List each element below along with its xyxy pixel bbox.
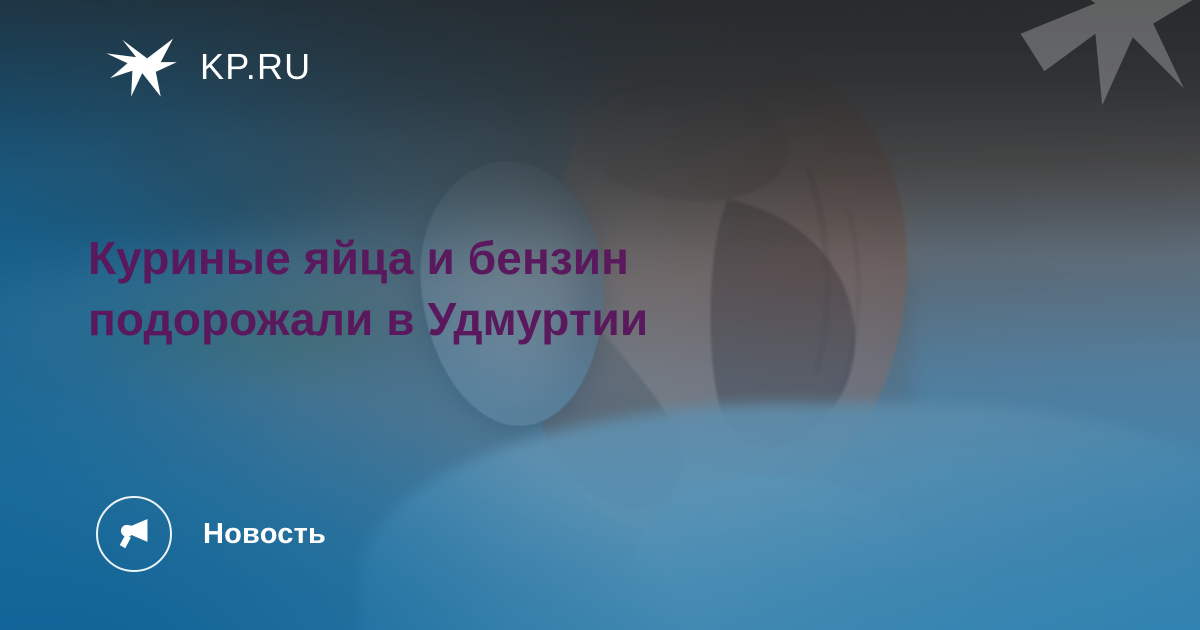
share-card: KP.RU Куриные яйца и бензин подорожали в…: [0, 0, 1200, 630]
status-badge-label: Новость: [203, 520, 326, 549]
status-badge[interactable]: Новость: [96, 496, 326, 572]
megaphone-icon: [96, 496, 172, 572]
brand-lockup[interactable]: KP.RU: [104, 34, 311, 100]
brand-wordmark: KP.RU: [200, 49, 311, 85]
page-title: Куриные яйца и бензин подорожали в Удмур…: [88, 228, 848, 350]
swallow-bird-icon: [104, 34, 178, 100]
